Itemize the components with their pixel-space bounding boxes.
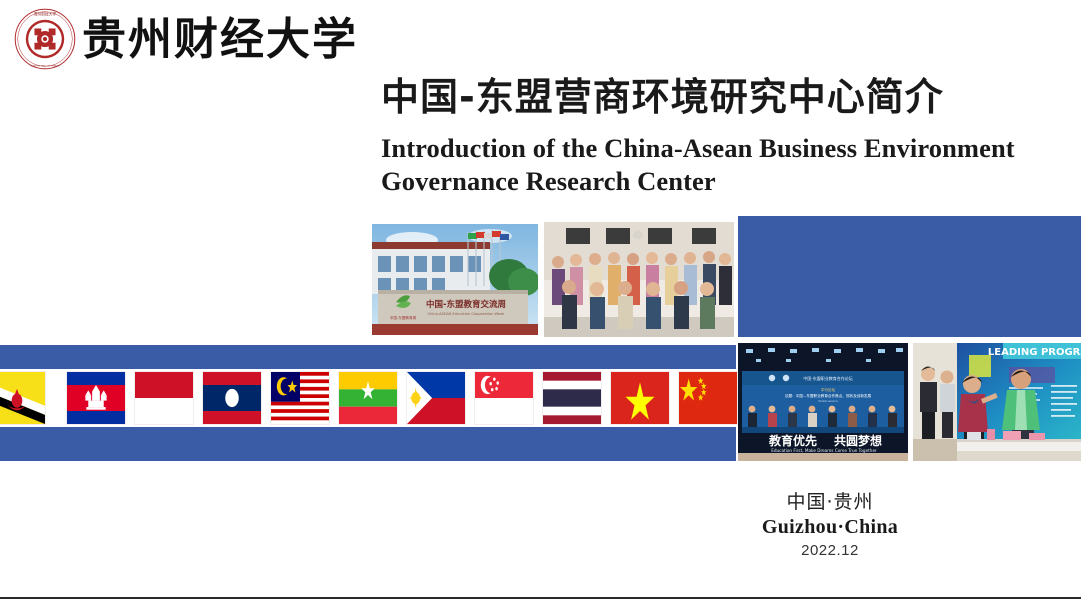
flag-cambodia	[66, 371, 126, 425]
svg-text:GUIZHOU UNIV. OF FINANCE: GUIZHOU UNIV. OF FINANCE	[30, 64, 60, 67]
svg-text:议题：中国—东盟职业教育合作焦点、现状及创新发展: 议题：中国—东盟职业教育合作焦点、现状及创新发展	[785, 393, 872, 398]
svg-text:Education First, Make Dreams C: Education First, Make Dreams Come True T…	[771, 448, 877, 453]
flag-laos	[202, 371, 262, 425]
university-wordmark-text: 贵州财经大学	[82, 10, 362, 70]
photo-china-asean-education-week-site: 中国-东盟教育周 中国-东盟教育交流周 China-ASEAN Educatio…	[372, 224, 538, 335]
flag-myanmar	[338, 371, 398, 425]
photo-education-forum-panel: 中国-东盟职业教育合作论坛 平行论坛 议题：中国—东盟职业教育合作焦点、现状及创…	[738, 343, 908, 461]
flag-singapore	[474, 371, 534, 425]
slide-title-english: Introduction of the China-Asean Business…	[381, 132, 1041, 198]
photo-forum-artwork: 中国-东盟职业教育合作论坛 平行论坛 议题：中国—东盟职业教育合作焦点、现状及创…	[738, 343, 908, 461]
flag-brunei	[0, 371, 46, 425]
flag-indonesia	[134, 371, 194, 425]
svg-text:教育优先: 教育优先	[768, 433, 817, 448]
slide-footer: 中国·贵州 Guizhou·China 2022.12	[700, 490, 960, 562]
flag-vietnam	[610, 371, 670, 425]
svg-text:共圆梦想: 共圆梦想	[834, 433, 882, 448]
svg-text:China-ASEAN Education Cooperat: China-ASEAN Education Cooperation Week	[428, 312, 506, 316]
flag-thailand	[542, 371, 602, 425]
presentation-slide: 贵州财经大学 GUIZHOU UNIV. OF FINANCE 贵州财经大学 中…	[0, 0, 1081, 599]
footer-date: 2022.12	[700, 540, 960, 562]
svg-text:平行论坛: 平行论坛	[821, 387, 836, 392]
flag-philippines	[406, 371, 466, 425]
photo-booth-artwork: LEADING PROGRAM	[913, 343, 1081, 461]
photo-campus-artwork: 中国-东盟教育周 中国-东盟教育交流周 China-ASEAN Educatio…	[372, 224, 538, 335]
footer-location-english: Guizhou·China	[700, 514, 960, 540]
photo-exhibition-booth: LEADING PROGRAM	[913, 343, 1081, 461]
flag-malaysia	[270, 371, 330, 425]
university-wordmark: 贵州财经大学	[82, 10, 362, 72]
footer-location-chinese: 中国·贵州	[700, 490, 960, 514]
svg-text:LEADING PROGRAM: LEADING PROGRAM	[988, 347, 1081, 358]
university-emblem-icon: 贵州财经大学 GUIZHOU UNIV. OF FINANCE	[14, 8, 76, 70]
photo-group-artwork	[544, 222, 734, 337]
photo-international-students-group	[544, 222, 734, 337]
svg-text:Parallel sessions: Parallel sessions	[818, 400, 838, 403]
slide-title-chinese: 中国-东盟营商环境研究中心简介	[381, 66, 944, 121]
svg-text:贵州财经大学: 贵州财经大学	[34, 11, 57, 16]
university-logo: 贵州财经大学 GUIZHOU UNIV. OF FINANCE 贵州财经大学	[14, 6, 364, 78]
flag-china	[678, 371, 738, 425]
svg-text:中国-东盟教育交流周: 中国-东盟教育交流周	[426, 299, 506, 310]
svg-text:中国-东盟职业教育合作论坛: 中国-东盟职业教育合作论坛	[803, 375, 852, 381]
blue-accent-panel	[738, 216, 1081, 337]
svg-text:中国-东盟教育周: 中国-东盟教育周	[390, 315, 417, 320]
asean-china-flag-band	[0, 345, 736, 461]
